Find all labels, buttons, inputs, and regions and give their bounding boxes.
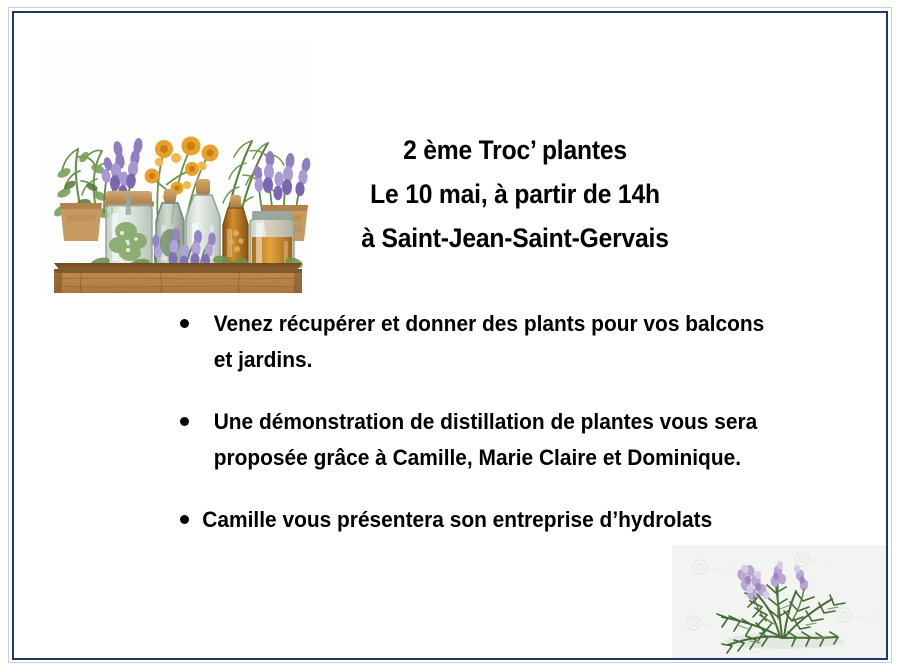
svg-text:depositphotos: depositphotos xyxy=(852,613,877,618)
bullet-dot-icon xyxy=(180,417,189,426)
herb-crate-image xyxy=(40,45,312,293)
bullet-dot-icon xyxy=(180,515,189,524)
poster-canvas: 2 ème Troc’ plantes Le 10 mai, à partir … xyxy=(0,0,900,668)
bullet-dot-icon xyxy=(180,319,189,328)
wooden-crate xyxy=(54,263,302,293)
rosemary-sprig-image: depositphotos depositphotos depositphoto… xyxy=(672,545,886,658)
list-item: Camille vous présentera son entreprise d… xyxy=(180,502,810,538)
amber-dropper-bottle xyxy=(223,195,248,263)
list-item-text: Une démonstration de distillation de pla… xyxy=(189,404,779,476)
svg-text:depositphotos: depositphotos xyxy=(810,557,835,562)
list-item: Une démonstration de distillation de pla… xyxy=(180,404,810,476)
list-item: Venez récupérer et donner des plants pou… xyxy=(180,306,810,378)
glass-clip-jar xyxy=(104,191,154,267)
event-headline: 2 ème Troc’ plantes Le 10 mai, à partir … xyxy=(315,128,715,260)
list-item-text: Venez récupérer et donner des plants pou… xyxy=(189,306,779,378)
svg-text:depositphotos: depositphotos xyxy=(708,565,733,570)
event-details-list: Venez récupérer et donner des plants pou… xyxy=(180,306,810,538)
list-item-text: Camille vous présentera son entreprise d… xyxy=(189,502,779,538)
headline-line-2: Le 10 mai, à partir de 14h xyxy=(315,172,715,216)
left-small-pot xyxy=(60,203,102,241)
headline-line-3: à Saint-Jean-Saint-Gervais xyxy=(315,216,715,260)
headline-line-1: 2 ème Troc’ plantes xyxy=(315,128,715,172)
